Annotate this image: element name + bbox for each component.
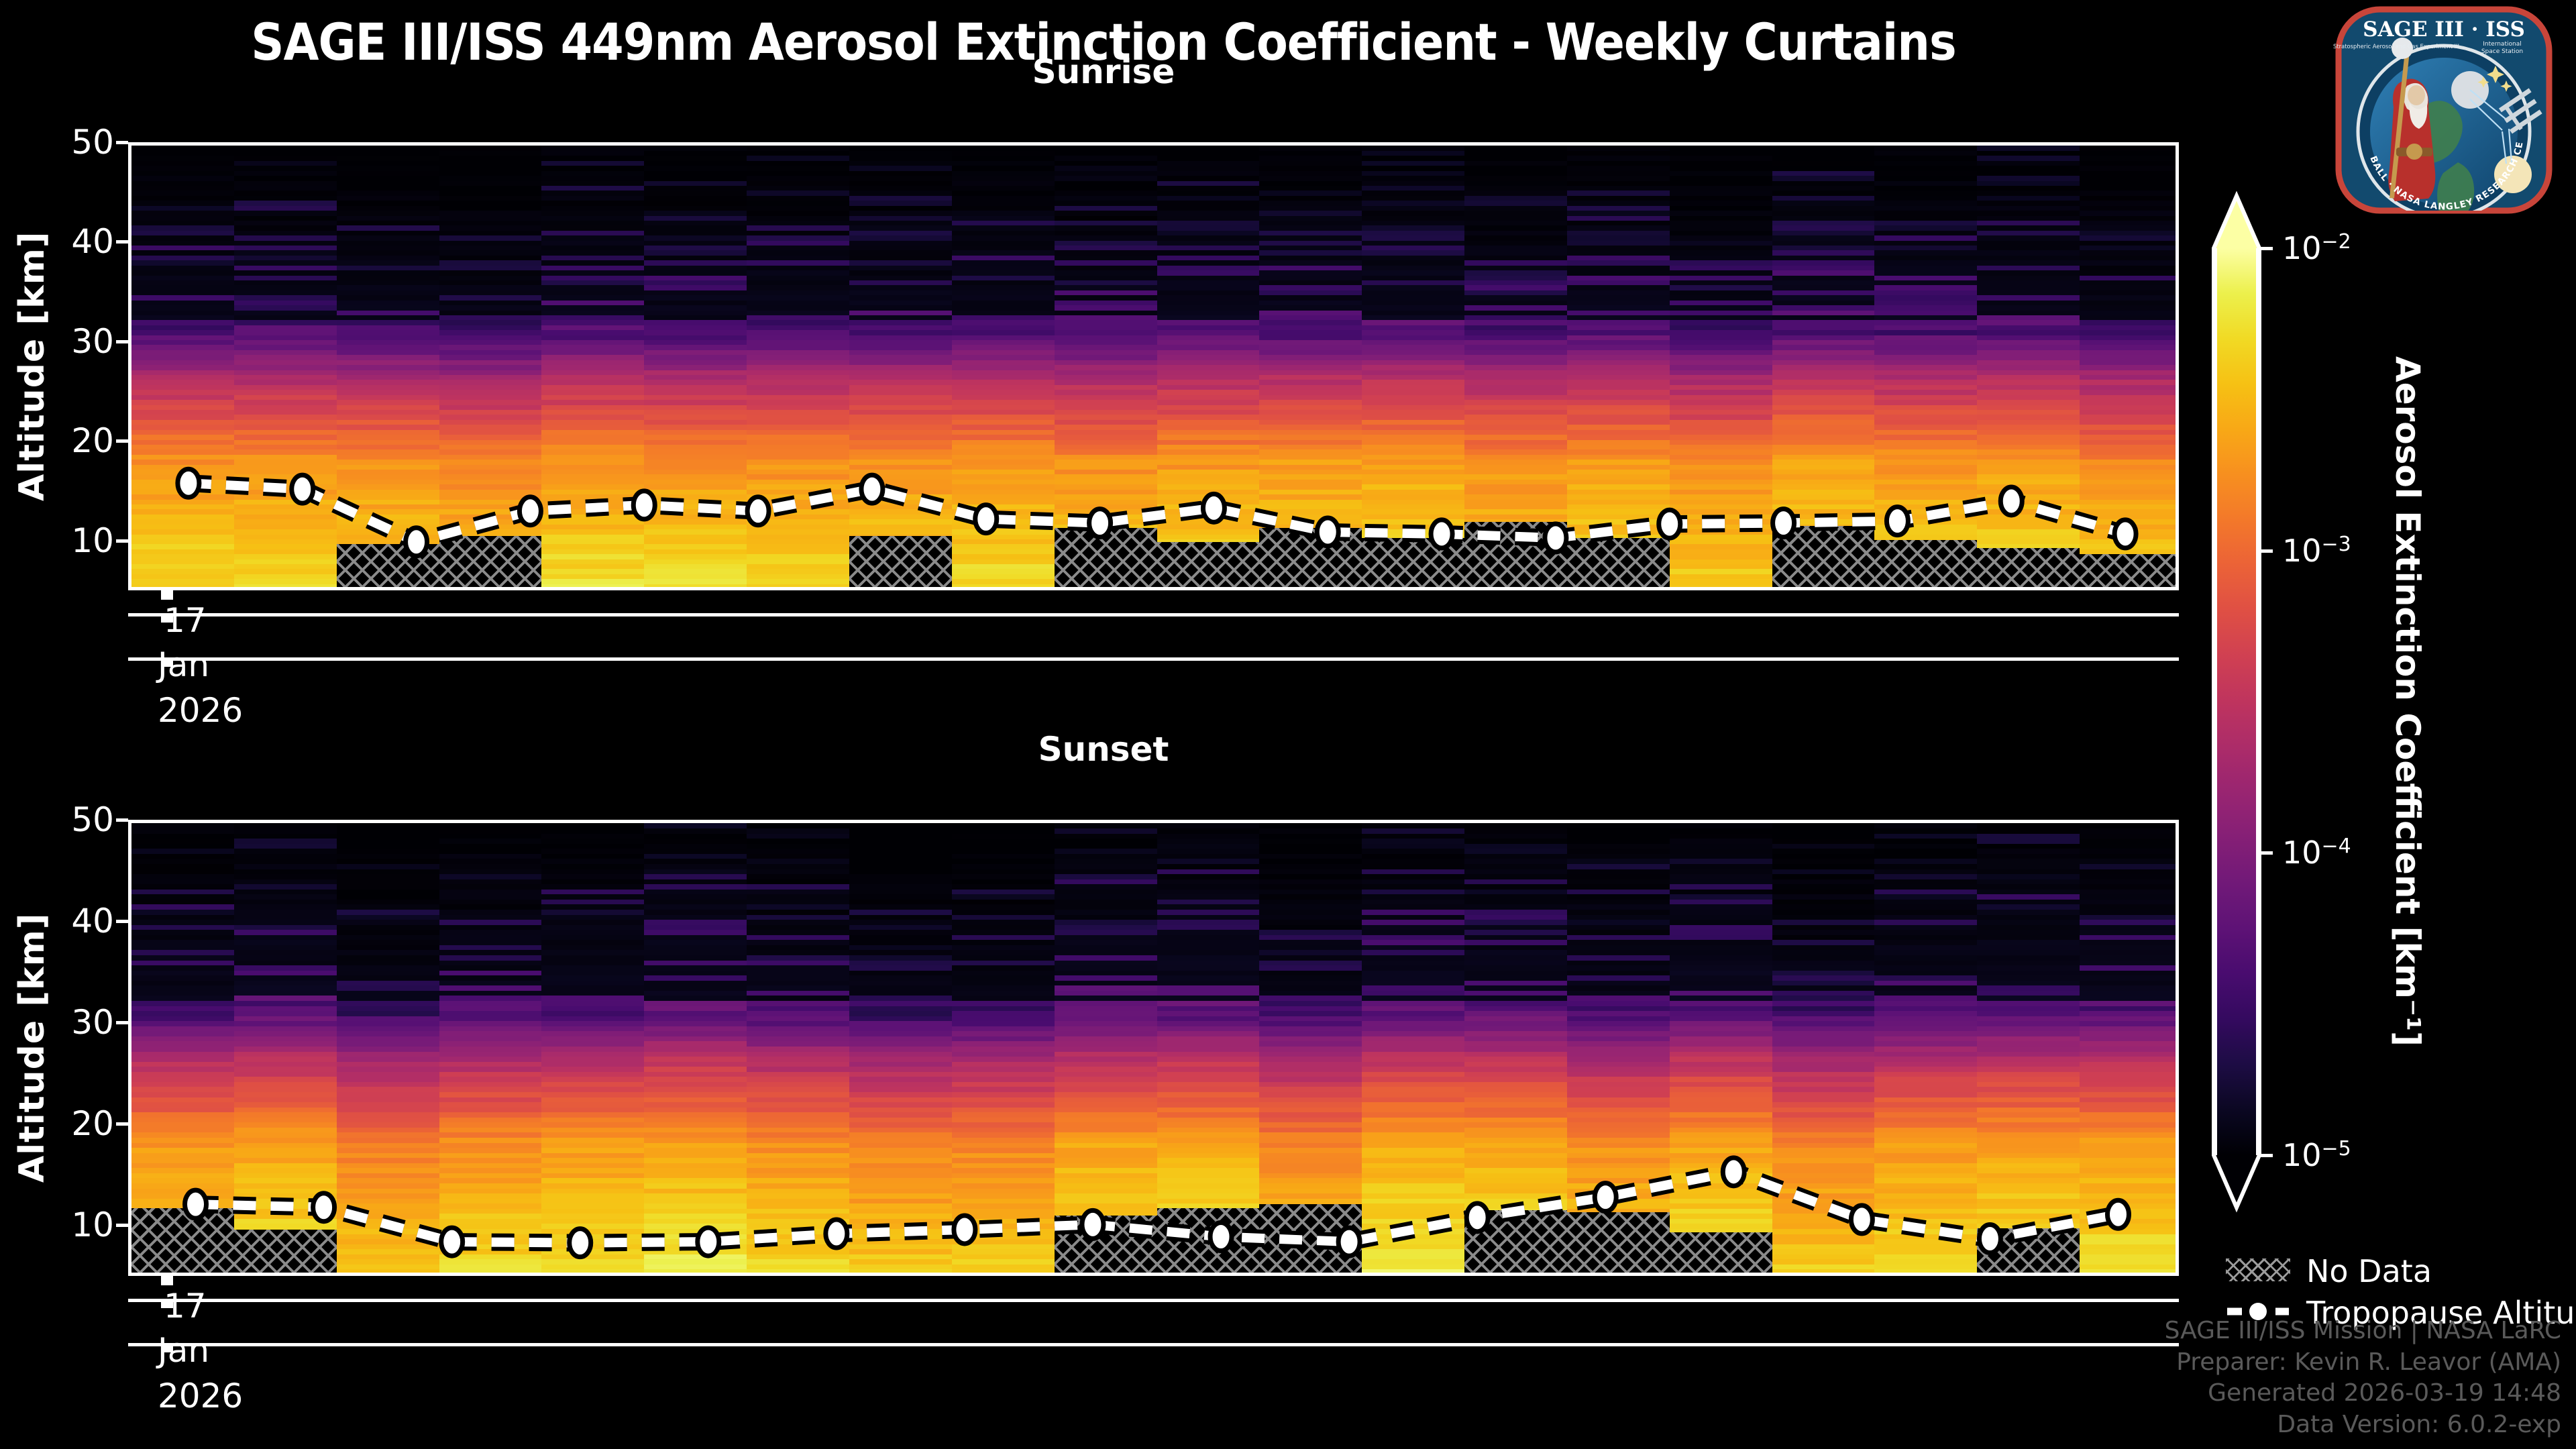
tropopause-marker [1466,1203,1488,1232]
tropopause-marker [2114,520,2136,548]
curtain-cell [747,589,849,590]
tropopause-line-halo [196,1172,2118,1243]
tropopause-marker [1203,494,1224,522]
tropopause-marker [1431,520,1452,548]
colorbar-tick-mantissa: 10 [2282,533,2322,569]
colorbar-tick-exponent: −3 [2322,532,2351,555]
curtain-cell [1055,1274,1157,1276]
tropopause-marker [826,1220,847,1248]
y-tick-mark-sunset-20 [116,1122,128,1126]
colorbar-tick-mark-0 [2259,247,2273,250]
tropopause-marker [1723,1158,1744,1186]
colorbar-tick-mark-1 [2259,549,2273,553]
y-tick-mark-sunrise-40 [116,240,128,244]
tropopause-marker [2000,487,2022,515]
colorbar-tick-mantissa: 10 [2282,1137,2322,1173]
y-tick-label-sunrise-40: 40 [40,222,114,261]
tropopause-marker [292,475,313,503]
tropopause-marker [633,491,655,519]
curtain-cell [1772,1274,1875,1276]
y-tick-label-sunrise-30: 30 [40,322,114,361]
sage-iii-iss-logo: SAGE III · ISS Stratospheric Aerosol and… [2326,4,2561,219]
y-tick-mark-sunrise-30 [116,340,128,343]
curtain-cell [1362,589,1464,590]
curtain-cell [1772,589,1875,590]
tropopause-marker [1773,509,1794,537]
y-tick-mark-sunrise-10 [116,539,128,543]
tropopause-marker [975,505,997,533]
logo-subtitle-left: Stratospheric Aerosol and Gas Experiment… [2333,43,2459,50]
y-tick-mark-sunset-50 [116,818,128,822]
no-data-hatch-icon [2226,1258,2290,1281]
curtain-cell [952,1274,1055,1276]
plot-area-sunrise[interactable] [128,142,2179,590]
y-tick-mark-sunset-40 [116,920,128,923]
curtain-cell [234,1274,337,1276]
credit-mission: SAGE III/ISS Mission | NASA LaRC [2165,1316,2561,1347]
curtain-cell [644,589,747,590]
x-axis-rule-sunset-year [128,1343,2179,1346]
logo-subtitle-right-1: International [2483,41,2521,48]
curtain-cell [747,1274,849,1276]
curtain-cell [131,1274,234,1276]
x-tick-mark-sunrise-year [161,657,173,667]
curtain-cell [541,589,644,590]
x-tick-mark-sunset-day [161,1276,173,1285]
x-tick-mark-sunset-month [161,1299,173,1308]
curtain-cell [337,589,439,590]
tropopause-marker [1851,1205,1872,1234]
y-tick-label-sunset-20: 20 [40,1104,114,1143]
curtain-cell [1977,1274,2080,1276]
tropopause-marker [1595,1183,1616,1212]
curtain-cell [439,589,542,590]
curtain-cell [849,589,952,590]
curtain-cell [1157,589,1260,590]
curtain-cell [1464,589,1567,590]
x-tick-label-sunrise-year: 2026 [158,691,243,730]
x-axis-rule-sunset-month [128,1299,2179,1302]
curtain-cell [131,589,234,590]
curtain-cell [1259,589,1362,590]
colorbar[interactable] [2214,196,2259,1207]
credit-preparer: Preparer: Kevin R. Leavor (AMA) [2165,1347,2561,1379]
y-tick-label-sunrise-50: 50 [40,123,114,162]
y-tick-label-sunset-50: 50 [40,800,114,839]
curtain-cell [1055,589,1157,590]
tropopause-marker [954,1216,975,1244]
tropopause-marker [1317,518,1338,546]
curtain-cell [1874,1274,1977,1276]
tropopause-marker [570,1229,591,1257]
tropopause-marker [1659,510,1680,538]
curtain-cell [1670,1274,1772,1276]
colorbar-tick-label-3: 10−5 [2282,1137,2351,1173]
tropopause-marker [1886,507,1908,535]
logo-title: SAGE III · ISS [2363,17,2525,42]
y-tick-label-sunset-30: 30 [40,1003,114,1042]
credits-block: SAGE III/ISS Mission | NASA LaRC Prepare… [2165,1316,2561,1441]
tropopause-marker [1338,1228,1360,1256]
curtain-cell [1567,1274,1670,1276]
plot-area-sunset[interactable] [128,820,2179,1276]
y-tick-mark-sunrise-20 [116,439,128,443]
tropopause-marker [2107,1200,2129,1228]
y-tick-label-sunrise-20: 20 [40,421,114,460]
y-tick-mark-sunset-10 [116,1224,128,1227]
tropopause-marker [313,1193,335,1222]
colorbar-tick-mantissa: 10 [2282,835,2322,871]
y-tick-mark-sunrise-50 [116,141,128,144]
x-axis-rule-sunrise-month [128,613,2179,616]
x-axis-rule-sunrise-year [128,657,2179,661]
colorbar-tick-exponent: −5 [2322,1137,2351,1161]
logo-subtitle-right-2: Space Station [2481,48,2523,55]
y-tick-label-sunset-40: 40 [40,902,114,941]
x-tick-mark-sunset-year [161,1343,173,1352]
y-tick-mark-sunset-30 [116,1021,128,1024]
colorbar-tick-label-2: 10−4 [2282,835,2351,871]
colorbar-tick-mark-3 [2259,1154,2273,1157]
curtain-cell [541,1274,644,1276]
y-tick-label-sunrise-10: 10 [40,521,114,560]
colorbar-title: Aerosol Extinction Coefficient [km⁻¹] [2388,228,2427,1175]
tropopause-marker [861,475,883,503]
panel-title-sunset: Sunset [0,730,2207,769]
curtain-cell [1670,589,1772,590]
colorbar-outline [2210,193,2263,1211]
curtain-cell [849,1274,952,1276]
legend-label-no-data: No Data [2306,1253,2432,1289]
tropopause-series-sunset [131,823,2179,1276]
legend-item-no-data: No Data [2226,1249,2561,1291]
tropopause-marker [406,528,427,556]
credit-dataversion: Data Version: 6.0.2-exp [2165,1409,2561,1441]
colorbar-tick-label-0: 10−2 [2282,230,2351,266]
tropopause-marker [1545,524,1566,552]
tropopause-marker [185,1190,207,1218]
x-tick-mark-sunrise-month [161,613,173,623]
colorbar-tick-exponent: −4 [2322,835,2351,858]
colorbar-tick-mark-2 [2259,851,2273,855]
x-tick-mark-sunrise-day [161,590,173,600]
curtain-cell [2080,1274,2179,1276]
tropopause-series-sunrise [131,146,2179,590]
curtain-cell [1259,1274,1362,1276]
curtain-cell [1567,589,1670,590]
curtain-cell [234,589,337,590]
tropopause-marker [1979,1225,2000,1253]
curtain-cell [644,1274,747,1276]
tropopause-marker [747,497,769,525]
x-tick-label-sunset-year: 2026 [158,1377,243,1415]
curtain-cell [439,1274,542,1276]
logo-svg: SAGE III · ISS Stratospheric Aerosol and… [2326,4,2561,219]
tropopause-marker [1082,1210,1104,1238]
curtain-cell [1464,1274,1567,1276]
curtain-cell [2080,589,2179,590]
credit-generated: Generated 2026-03-19 14:48 [2165,1378,2561,1409]
curtain-cell [337,1274,439,1276]
panel-title-sunrise: Sunrise [0,52,2207,91]
tropopause-marker [441,1228,463,1256]
tropopause-marker [178,469,199,497]
colorbar-tick-mantissa: 10 [2282,230,2322,266]
curtain-cell [952,589,1055,590]
colorbar-tick-exponent: −2 [2322,230,2351,254]
y-tick-label-sunset-10: 10 [40,1205,114,1244]
tropopause-marker [1089,509,1111,537]
curtain-cell [1874,589,1977,590]
tropopause-marker [1210,1223,1232,1251]
curtain-cell [1157,1274,1260,1276]
tropopause-marker [519,497,541,525]
curtain-cell [1977,589,2080,590]
tropopause-line [196,1172,2118,1243]
tropopause-marker [698,1228,719,1256]
colorbar-tick-label-1: 10−3 [2282,532,2351,568]
curtain-cell [1362,1274,1464,1276]
